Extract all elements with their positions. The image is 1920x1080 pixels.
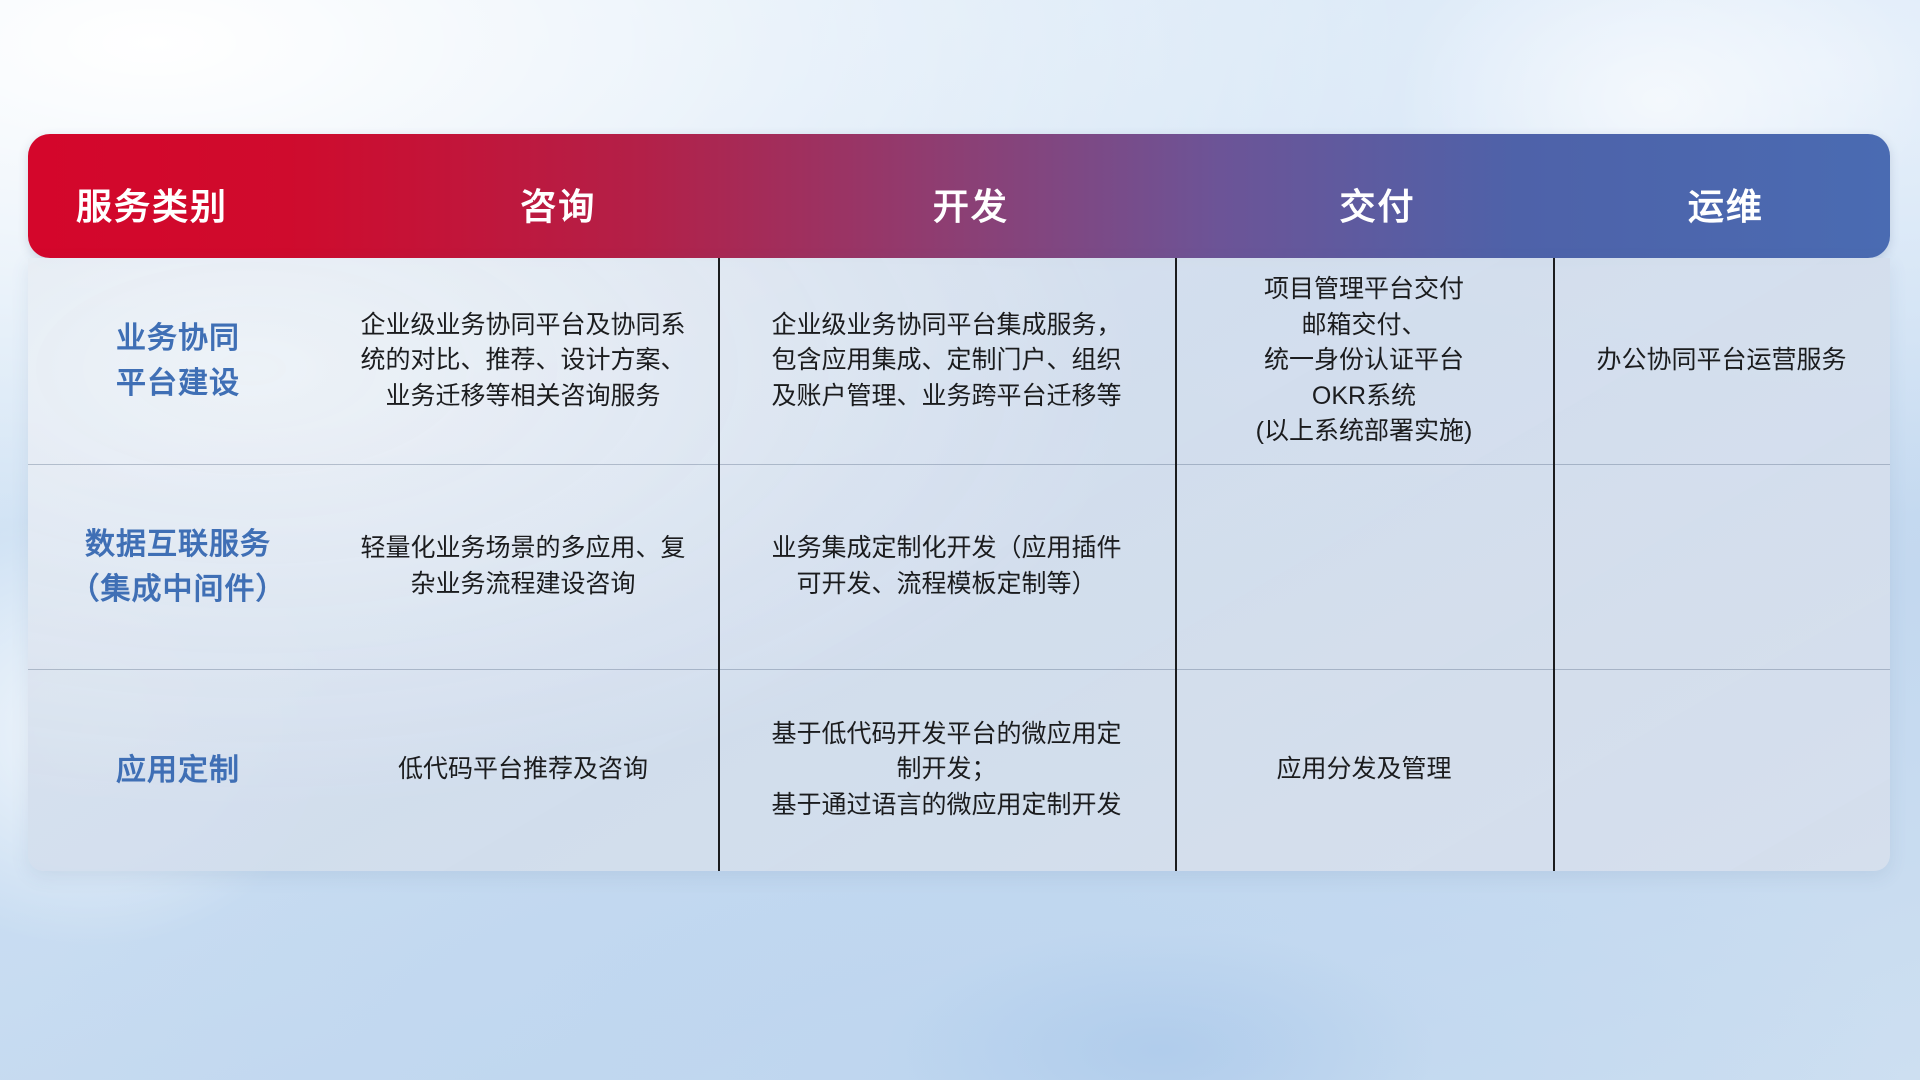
table-header-row: 服务类别 咨询 开发 交付 运维 xyxy=(28,134,1890,258)
cell-operations xyxy=(1553,669,1890,871)
row-label-data-interconnect: 数据互联服务 （集成中间件） xyxy=(28,464,328,669)
table-row: 应用定制 低代码平台推荐及咨询 基于低代码开发平台的微应用定 制开发； 基于通过… xyxy=(28,669,1890,871)
table-body: 业务协同 平台建设 企业级业务协同平台及协同系 统的对比、推荐、设计方案、 业务… xyxy=(28,258,1890,871)
cell-operations: 办公协同平台运营服务 xyxy=(1553,258,1890,464)
cell-delivery: 项目管理平台交付 邮箱交付、 统一身份认证平台 OKR系统 (以上系统部署实施) xyxy=(1175,258,1553,464)
cell-development: 业务集成定制化开发（应用插件 可开发、流程模板定制等） xyxy=(718,464,1175,669)
cell-delivery: 应用分发及管理 xyxy=(1175,669,1553,871)
row-label-business-collaboration: 业务协同 平台建设 xyxy=(28,258,328,464)
column-header-consulting: 咨询 xyxy=(368,178,748,258)
cell-operations xyxy=(1553,464,1890,669)
column-header-operations: 运维 xyxy=(1562,178,1890,258)
column-header-delivery: 交付 xyxy=(1193,178,1561,258)
service-matrix-table: 服务类别 咨询 开发 交付 运维 业务协同 平台建设 企业级业务协同平台及协同系… xyxy=(28,134,1890,871)
cell-consulting: 低代码平台推荐及咨询 xyxy=(328,669,718,871)
table-row: 业务协同 平台建设 企业级业务协同平台及协同系 统的对比、推荐、设计方案、 业务… xyxy=(28,258,1890,464)
cell-delivery xyxy=(1175,464,1553,669)
cell-consulting: 轻量化业务场景的多应用、复 杂业务流程建设咨询 xyxy=(328,464,718,669)
cell-development: 企业级业务协同平台集成服务， 包含应用集成、定制门户、组织 及账户管理、业务跨平… xyxy=(718,258,1175,464)
row-label-app-customization: 应用定制 xyxy=(28,669,328,871)
cell-consulting: 企业级业务协同平台及协同系 统的对比、推荐、设计方案、 业务迁移等相关咨询服务 xyxy=(328,258,718,464)
column-header-category: 服务类别 xyxy=(28,178,368,258)
cell-development: 基于低代码开发平台的微应用定 制开发； 基于通过语言的微应用定制开发 xyxy=(718,669,1175,871)
table-row: 数据互联服务 （集成中间件） 轻量化业务场景的多应用、复 杂业务流程建设咨询 业… xyxy=(28,464,1890,669)
column-header-development: 开发 xyxy=(748,178,1193,258)
